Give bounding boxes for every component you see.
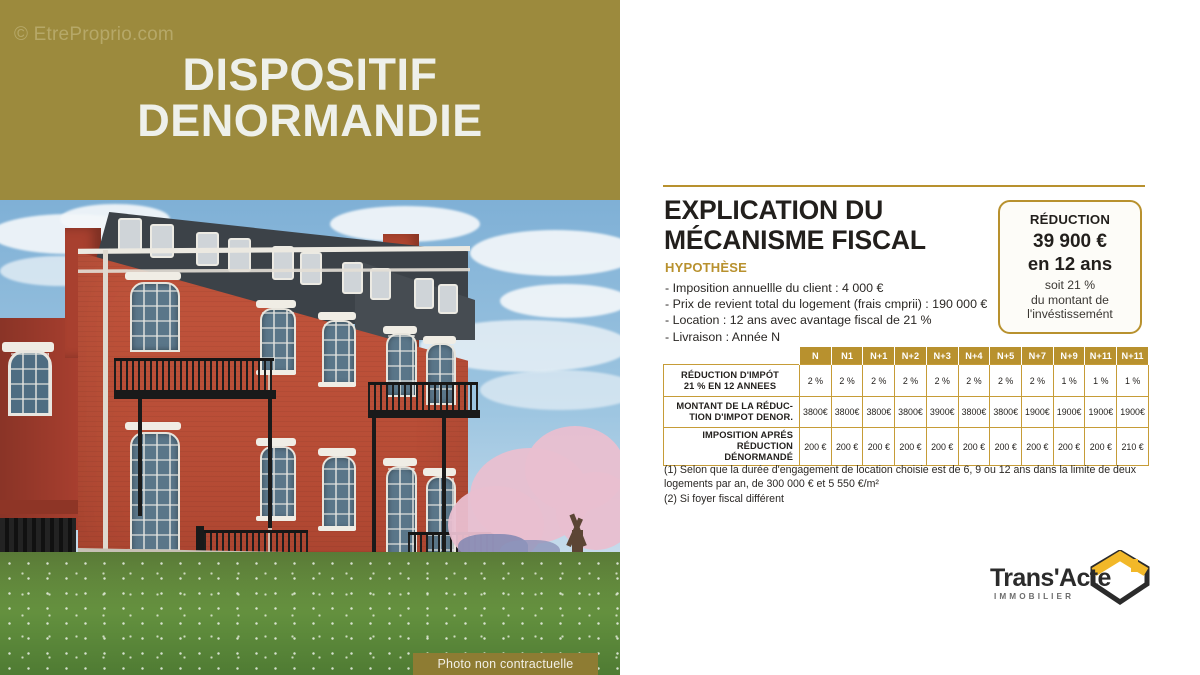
column-header: N+9 — [1053, 347, 1085, 365]
column-header: N+2 — [895, 347, 927, 365]
reduction-callout-box: RÉDUCTION 39 900 € en 12 ans soit 21 % d… — [998, 200, 1142, 334]
building-photo — [0, 200, 620, 675]
table-cell: 2 % — [926, 365, 958, 397]
row-label: IMPOSITION APRÉS RÉDUCTION DÉNORMANDÉ — [664, 428, 800, 466]
footnote-2: (2) Si foyer fiscal différent — [664, 492, 1144, 506]
window — [130, 282, 180, 352]
hypothesis-label: HYPOTHÈSE — [665, 260, 747, 275]
column-header: N+1 — [863, 347, 895, 365]
table-cell: 2 % — [958, 365, 990, 397]
table-cell: 200 € — [958, 428, 990, 466]
fiscal-table: N N1 N+1 N+2 N+3 N+4 N+5 N+7 N+9 N+11 N+… — [663, 347, 1149, 466]
dormer-window — [414, 278, 434, 309]
column-header: N+11 — [1117, 347, 1149, 365]
dormer-window — [118, 218, 142, 252]
reduction-duration: en 12 ans — [1028, 253, 1112, 275]
footnotes: (1) Selon que la durée d'engagement de l… — [664, 463, 1144, 506]
table-cell: 3800€ — [990, 397, 1022, 428]
reduction-amount: 39 900 € — [1033, 231, 1107, 253]
dormer-window — [438, 284, 458, 314]
table-cell: 1900€ — [1053, 397, 1085, 428]
table-cell: 1 % — [1117, 365, 1149, 397]
table-cell: 2 % — [863, 365, 895, 397]
column-header: N — [800, 347, 832, 365]
table-cell: 3800€ — [863, 397, 895, 428]
table-cell: 200 € — [831, 428, 863, 466]
window-sill — [318, 526, 356, 531]
dormer-window — [370, 268, 391, 300]
table-cell: 210 € — [1117, 428, 1149, 466]
table-cell: 3900€ — [926, 397, 958, 428]
window-lintel — [423, 468, 456, 476]
table-cell: 2 % — [990, 365, 1022, 397]
cloud — [500, 284, 620, 318]
table-cell: 200 € — [1053, 428, 1085, 466]
table-cell: 200 € — [926, 428, 958, 466]
dormer-window — [300, 252, 322, 285]
table-cell: 3800€ — [800, 397, 832, 428]
row-label-line1: MONTANT DE LA RÉDUC- — [676, 401, 793, 411]
downpipe — [103, 250, 108, 568]
window-lintel — [318, 448, 356, 456]
table-cell: 1 % — [1053, 365, 1085, 397]
reduction-title: RÉDUCTION — [1030, 212, 1110, 227]
window-lintel — [125, 272, 181, 280]
section-title-line1: EXPLICATION DU — [664, 195, 883, 225]
table-cell: 1 % — [1085, 365, 1117, 397]
list-item: - Prix de revient total du logement (fra… — [665, 296, 1010, 312]
logo-wordmark: Trans'Acte — [990, 564, 1111, 593]
reduction-note-line1: soit 21 % — [1045, 278, 1095, 293]
window-lintel — [256, 300, 296, 308]
footnote-1: (1) Selon que la durée d'engagement de l… — [664, 463, 1144, 492]
table-cell: 2 % — [895, 365, 927, 397]
table-cell: 200 € — [990, 428, 1022, 466]
row-label-line2: TION D'IMPOT DENOR. — [689, 412, 793, 422]
row-label-line1: IMPOSITION APRÉS — [702, 430, 793, 440]
left-panel: © EtreProprio.com DISPOSITIF DENORMANDIE — [0, 0, 620, 675]
column-header: N1 — [831, 347, 863, 365]
reduction-note-line2: du montant de — [1031, 293, 1109, 308]
photo-caption: Photo non contractuelle — [413, 653, 598, 675]
window — [322, 456, 356, 530]
right-panel: EXPLICATION DU MÉCANISME FISCAL HYPOTHÈS… — [620, 0, 1200, 675]
table-corner-cell — [664, 347, 800, 365]
column-header: N+3 — [926, 347, 958, 365]
page-title: DISPOSITIF DENORMANDIE — [0, 52, 620, 144]
hero-title-line1: DISPOSITIF — [182, 49, 437, 100]
column-header: N+7 — [1022, 347, 1054, 365]
table-cell: 1900€ — [1022, 397, 1054, 428]
dormer-window — [228, 238, 251, 272]
reduction-note-line3: l'invéstissemént — [1027, 307, 1113, 322]
column-header: N+4 — [958, 347, 990, 365]
table-cell: 2 % — [800, 365, 832, 397]
window-sill — [318, 382, 356, 387]
table-row: IMPOSITION APRÉS RÉDUCTION DÉNORMANDÉ 20… — [664, 428, 1149, 466]
table-cell: 200 € — [863, 428, 895, 466]
balcony-post — [268, 398, 272, 528]
table-cell: 1900€ — [1085, 397, 1117, 428]
section-title: EXPLICATION DU MÉCANISME FISCAL — [664, 196, 974, 256]
column-header: N+5 — [990, 347, 1022, 365]
window-lintel — [318, 312, 356, 320]
window-lintel — [256, 438, 296, 446]
balcony-railing — [114, 358, 274, 394]
table-row: RÉDUCTION D'IMPÓT 21 % EN 12 ANNEES 2 % … — [664, 365, 1149, 397]
table-cell: 1900€ — [1117, 397, 1149, 428]
column-header: N+11 — [1085, 347, 1117, 365]
window — [322, 320, 356, 386]
table-cell: 200 € — [895, 428, 927, 466]
building-base — [0, 500, 80, 514]
table-cell: 3800€ — [895, 397, 927, 428]
row-label-line2: RÉDUCTION DÉNORMANDÉ — [724, 441, 793, 462]
row-label: MONTANT DE LA RÉDUC- TION D'IMPOT DENOR. — [664, 397, 800, 428]
window — [8, 350, 52, 416]
window-lintel — [125, 422, 181, 430]
section-title-line2: MÉCANISME FISCAL — [664, 226, 974, 256]
window-lintel — [383, 458, 417, 466]
table-cell: 200 € — [1085, 428, 1117, 466]
balcony-post — [372, 416, 376, 564]
list-item: - Imposition annuellle du client : 4 000… — [665, 280, 1010, 296]
row-label-line2: 21 % EN 12 ANNEES — [684, 381, 776, 391]
table-cell: 2 % — [1022, 365, 1054, 397]
list-item: - Location : 12 ans avec avantage fiscal… — [665, 312, 1010, 328]
logo-tagline: IMMOBILIER — [994, 592, 1074, 601]
list-item: - Livraison : Année N — [665, 329, 1010, 345]
balcony-post — [138, 398, 142, 516]
table-row: MONTANT DE LA RÉDUC- TION D'IMPOT DENOR.… — [664, 397, 1149, 428]
hypothesis-list: - Imposition annuellle du client : 4 000… — [665, 280, 1010, 345]
dormer-window — [342, 262, 363, 294]
watermark-text: © EtreProprio.com — [14, 24, 174, 46]
table-header-row: N N1 N+1 N+2 N+3 N+4 N+5 N+7 N+9 N+11 N+… — [664, 347, 1149, 365]
window — [260, 446, 296, 520]
hero-title-line2: DENORMANDIE — [0, 98, 620, 144]
window-sill — [256, 516, 296, 521]
table-cell: 200 € — [800, 428, 832, 466]
fiscal-table-wrapper: N N1 N+1 N+2 N+3 N+4 N+5 N+7 N+9 N+11 N+… — [663, 347, 1149, 466]
table-cell: 3800€ — [831, 397, 863, 428]
table-cell: 2 % — [831, 365, 863, 397]
balcony-slab — [368, 410, 480, 418]
company-logo: Trans'Acte IMMOBILIER — [990, 550, 1150, 612]
top-divider — [663, 185, 1145, 187]
table-cell: 3800€ — [958, 397, 990, 428]
row-label: RÉDUCTION D'IMPÓT 21 % EN 12 ANNEES — [664, 365, 800, 397]
poster-page: © EtreProprio.com DISPOSITIF DENORMANDIE — [0, 0, 1200, 675]
row-label-line1: RÉDUCTION D'IMPÓT — [681, 370, 779, 380]
table-cell: 200 € — [1022, 428, 1054, 466]
